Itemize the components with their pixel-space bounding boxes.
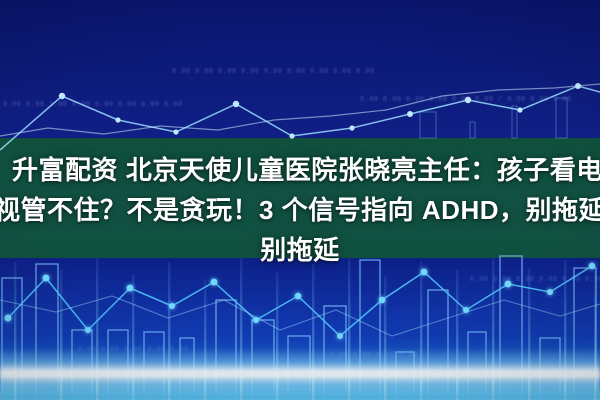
banner-image: 0.00 0.00 1.00 0.00 0.00 0.00 0.00 0.00 … — [0, 0, 600, 400]
top-line-chart — [0, 83, 600, 150]
ticker-text-2: 0.00 0.00 0.00 0.00 0.00 0.00 0.00 0.00 … — [172, 68, 374, 76]
lower-line-chart — [0, 263, 600, 339]
bottom-glow-core — [0, 366, 600, 380]
ticker-text-1: 0.00 0.00 1.00 0.00 0.00 0.00 0.00 0.00 — [3, 101, 182, 109]
headline-line-1: 升富配资 北京天使儿童医院张晓亮主任：孩子看电 — [0, 150, 600, 190]
headline-line-3: 别拖延 — [0, 230, 600, 270]
ticker-text-4: 0.00 0.00 0.00 0.00 0.00 — [78, 346, 188, 354]
headline-block: 升富配资 北京天使儿童医院张晓亮主任：孩子看电 视管不住？不是贪玩！3 个信号指… — [0, 150, 600, 270]
ticker-text-5: 0.00 0.00 0.00 0.00 0.00 0.00 0.00 0.00 — [470, 276, 600, 284]
ticker-text-3: 0.00 0.00 0.00 0.00 0.00 0.00 / 0.00 0.0… — [360, 96, 572, 104]
ticker-text-6: 0.00 0.00 0.00 0.00 — [330, 352, 417, 360]
headline-line-2: 视管不住？不是贪玩！3 个信号指向 ADHD，别拖延 — [0, 190, 600, 230]
top-line-markers — [59, 83, 581, 139]
